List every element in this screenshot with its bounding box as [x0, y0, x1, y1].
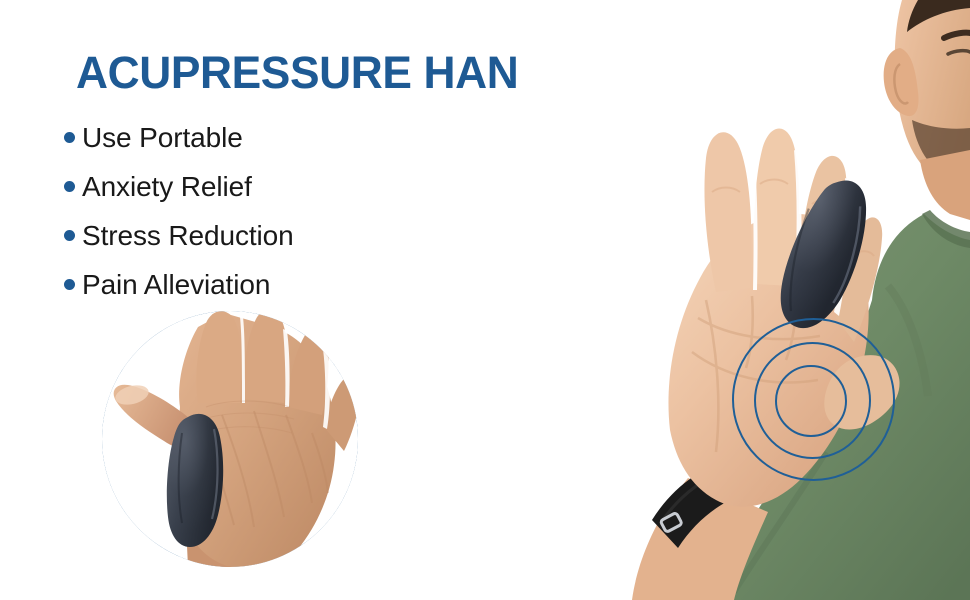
list-item-label: Stress Reduction: [82, 221, 294, 251]
list-item: Stress Reduction: [64, 211, 294, 260]
product-feature-banner: ACUPRESSURE HAND PRESSURE Use Portable A…: [0, 0, 970, 600]
list-item: Anxiety Relief: [64, 162, 294, 211]
inset-photo-clip: [102, 311, 358, 567]
man-holding-device-illustration: [520, 0, 970, 600]
hero-photo: [520, 0, 970, 600]
list-item-label: Use Portable: [82, 123, 243, 153]
bullet-dot-icon: [64, 230, 75, 241]
list-item: Pain Alleviation: [64, 260, 294, 309]
bullet-dot-icon: [64, 181, 75, 192]
inset-photo-circle: [102, 311, 358, 567]
list-item-label: Pain Alleviation: [82, 270, 270, 300]
bullet-dot-icon: [64, 279, 75, 290]
list-item: Use Portable: [64, 113, 294, 162]
list-item-label: Anxiety Relief: [82, 172, 252, 202]
bullet-dot-icon: [64, 132, 75, 143]
hand-with-device-illustration: [102, 311, 358, 567]
feature-list: Use Portable Anxiety Relief Stress Reduc…: [64, 113, 294, 309]
